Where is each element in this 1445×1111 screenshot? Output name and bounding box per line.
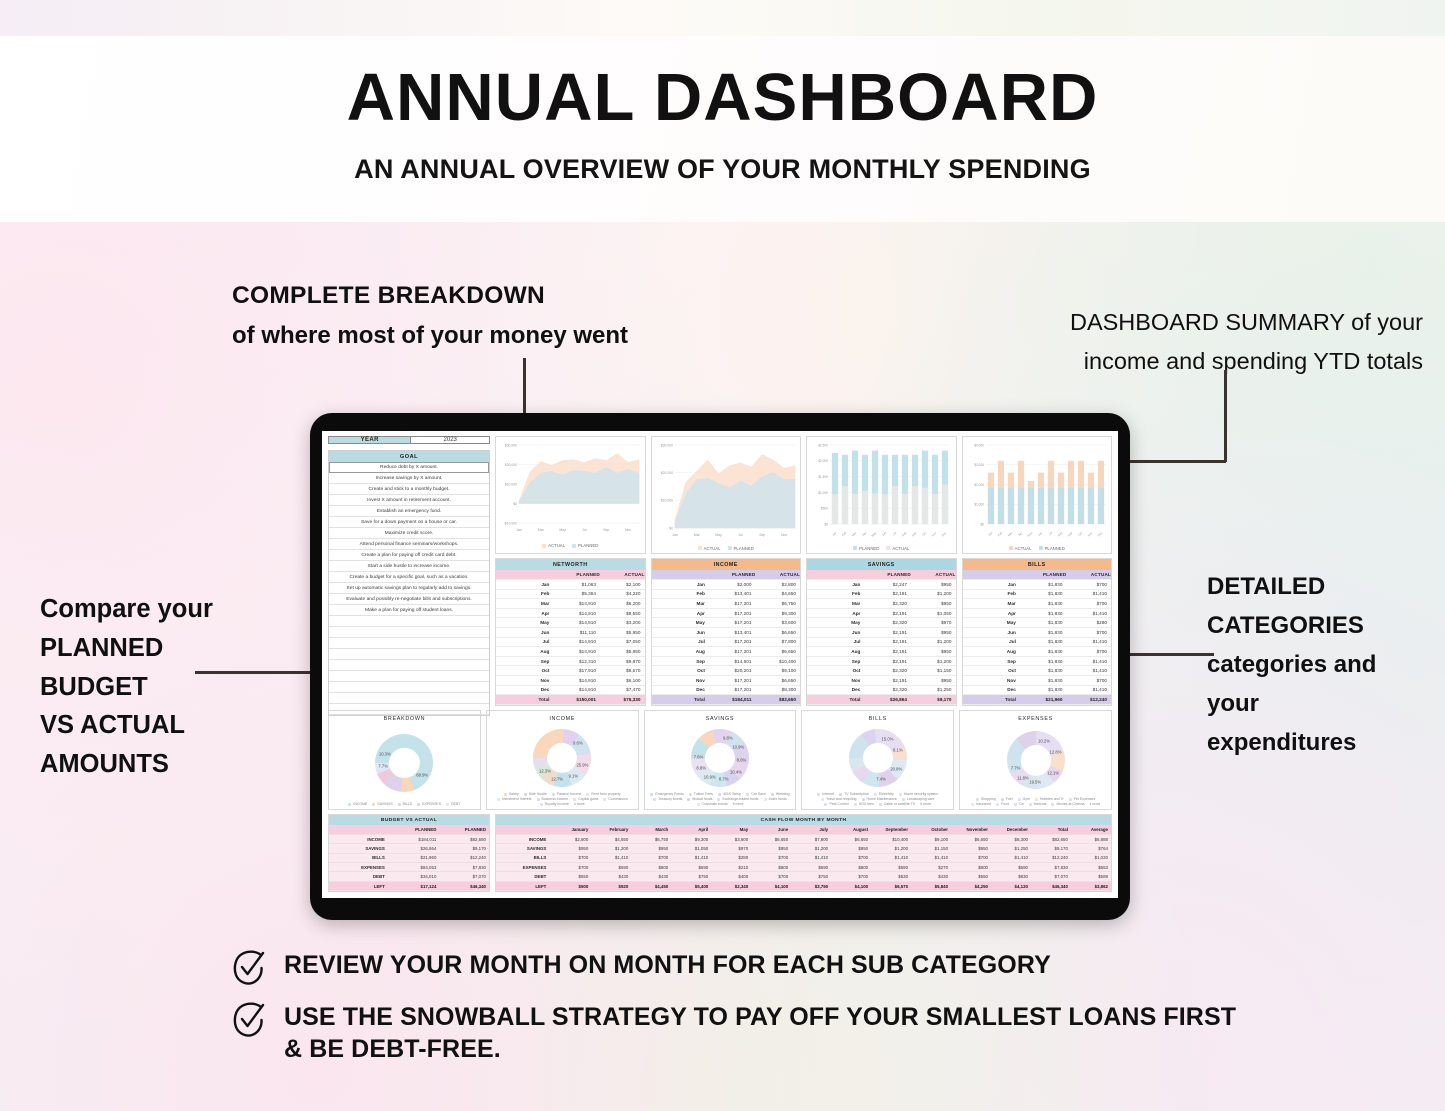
- goal-item-empty[interactable]: .: [329, 627, 489, 638]
- y-axis-tick-label: $0: [980, 522, 984, 526]
- cash-flow-cell[interactable]: $690: [871, 863, 911, 872]
- cash-flow-cell[interactable]: $1,410: [671, 853, 711, 862]
- table-row[interactable]: Aug$2,191$950: [807, 647, 956, 657]
- table-row[interactable]: Jan$2,247$950: [807, 580, 956, 590]
- cell-planned[interactable]: $5,364: [555, 589, 600, 599]
- cash-flow-cell[interactable]: $950: [551, 844, 591, 853]
- table-row[interactable]: Jun$13,401$6,650: [652, 628, 801, 638]
- cell-actual[interactable]: $7,050: [600, 637, 645, 647]
- goal-item-empty[interactable]: .: [329, 660, 489, 671]
- cell-planned[interactable]: $1,830: [1022, 666, 1067, 676]
- cash-flow-cell[interactable]: $750: [671, 872, 711, 881]
- bva-row[interactable]: LEFT$17,124$46,340: [329, 881, 489, 890]
- table-row[interactable]: Oct$20,201$9,100: [652, 666, 801, 676]
- goal-item[interactable]: Invest X amount in retirement account.: [329, 495, 489, 506]
- cell-actual[interactable]: $6,200: [600, 599, 645, 609]
- cell-actual[interactable]: $6,750: [755, 599, 800, 609]
- cash-flow-cell[interactable]: $3,750: [791, 881, 831, 890]
- bva-planned[interactable]: $17,124: [390, 881, 440, 890]
- chart-savings-bars[interactable]: $2,500$2,000$1,500$1,000$500$0JanFebMarA…: [806, 436, 957, 554]
- cell-actual[interactable]: $950: [911, 628, 956, 638]
- cell-actual[interactable]: $1,150: [911, 666, 956, 676]
- cell-actual[interactable]: $3,600: [755, 618, 800, 628]
- cash-flow-cell[interactable]: $800: [631, 863, 671, 872]
- bva-actual[interactable]: $82,650: [439, 834, 489, 843]
- cash-flow-cell[interactable]: $400: [711, 872, 751, 881]
- table-row[interactable]: Sep$1,830$1,410: [963, 656, 1112, 666]
- cell-actual[interactable]: $4,650: [755, 589, 800, 599]
- table-row[interactable]: Jun$2,191$950: [807, 628, 956, 638]
- x-axis-tick-label: Dec: [941, 530, 948, 537]
- cell-planned[interactable]: $17,201: [711, 608, 756, 618]
- cash-flow-cell[interactable]: $920: [591, 881, 631, 890]
- goal-item[interactable]: Save for a down payment on a house or ca…: [329, 517, 489, 528]
- cell-actual[interactable]: $1,410: [1066, 656, 1111, 666]
- table-cash-flow[interactable]: CASH FLOW MONTH BY MONTH JanuaryFebruary…: [495, 814, 1112, 892]
- cell-planned[interactable]: $2,191: [866, 637, 911, 647]
- bva-planned[interactable]: $184,011: [390, 834, 440, 843]
- cash-flow-cell[interactable]: $750: [791, 872, 831, 881]
- table-row[interactable]: Jul$17,201$7,800: [652, 637, 801, 647]
- legend-entry: Car Save: [746, 792, 766, 796]
- cell-actual[interactable]: $7,800: [755, 637, 800, 647]
- goal-item[interactable]: Attend personal finance seminars/worksho…: [329, 539, 489, 550]
- table-row[interactable]: Jul$2,191$1,200: [807, 637, 956, 647]
- cash-flow-cell[interactable]: $1,050: [671, 844, 711, 853]
- chart-bills-bars[interactable]: $4,000$3,000$2,000$1,000$0JanFebMarAprMa…: [962, 436, 1113, 554]
- cell-planned[interactable]: $2,191: [866, 628, 911, 638]
- cell-planned[interactable]: $1,830: [1022, 599, 1067, 609]
- cash-flow-cell[interactable]: $270: [911, 863, 951, 872]
- cell-actual[interactable]: $1,410: [1066, 637, 1111, 647]
- cash-flow-cell[interactable]: $12,240: [1031, 853, 1071, 862]
- table-bills[interactable]: BILLSPLANNEDACTUALJan$1,830$700Feb$1,830…: [962, 558, 1113, 706]
- bva-planned[interactable]: $84,053: [390, 863, 440, 872]
- table-row[interactable]: Apr$17,201$9,300: [652, 608, 801, 618]
- cell-planned[interactable]: $1,830: [1022, 637, 1067, 647]
- cash-flow-cell[interactable]: $5,400: [671, 881, 711, 890]
- bva-actual[interactable]: $12,240: [439, 853, 489, 862]
- cash-flow-cell[interactable]: $210: [711, 863, 751, 872]
- table-row[interactable]: Nov$2,191$950: [807, 676, 956, 686]
- cash-flow-cell[interactable]: $950: [951, 844, 991, 853]
- cell-planned[interactable]: $1,830: [1022, 647, 1067, 657]
- cash-flow-cell[interactable]: $1,410: [991, 853, 1031, 862]
- legend-entry: Emergency Funds: [650, 792, 683, 796]
- bva-row[interactable]: EXPENSES$84,053$7,830: [329, 863, 489, 872]
- year-selector[interactable]: YEAR 2023: [328, 436, 490, 444]
- cash-flow-cell[interactable]: $430: [591, 872, 631, 881]
- cell-planned[interactable]: $17,201: [711, 637, 756, 647]
- cash-flow-cell[interactable]: $550: [951, 872, 991, 881]
- cell-actual[interactable]: $5,950: [600, 628, 645, 638]
- cell-actual[interactable]: $1,250: [911, 685, 956, 695]
- cash-flow-cell[interactable]: $9,100: [911, 834, 951, 843]
- cash-flow-cell[interactable]: $4,100: [831, 881, 871, 890]
- cash-flow-cell[interactable]: $1,200: [791, 844, 831, 853]
- cell-actual[interactable]: $1,410: [1066, 608, 1111, 618]
- table-row[interactable]: Dec$2,320$1,250: [807, 685, 956, 695]
- cash-flow-cell[interactable]: $9,300: [671, 834, 711, 843]
- goal-item[interactable]: Evaluate and possibly re-negotiate bills…: [329, 594, 489, 605]
- cell-actual[interactable]: $2,800: [755, 580, 800, 590]
- cash-flow-cell[interactable]: $690: [591, 863, 631, 872]
- cash-flow-cell[interactable]: $950: [631, 844, 671, 853]
- cell-planned[interactable]: $1,830: [1022, 676, 1067, 686]
- cash-flow-cell[interactable]: $4,250: [951, 881, 991, 890]
- cash-flow-cell[interactable]: $700: [831, 872, 871, 881]
- cell-planned[interactable]: $2,320: [866, 666, 911, 676]
- table-row[interactable]: Feb$2,191$1,200: [807, 589, 956, 599]
- cell-actual[interactable]: $6,100: [600, 676, 645, 686]
- goal-item[interactable]: Set up automatic savings plan to regular…: [329, 583, 489, 594]
- cash-flow-cell[interactable]: $690: [991, 863, 1031, 872]
- cell-planned[interactable]: $1,830: [1022, 618, 1067, 628]
- table-row[interactable]: Apr$2,191$1,050: [807, 608, 956, 618]
- cash-flow-cell[interactable]: $950: [751, 844, 791, 853]
- cash-flow-cell[interactable]: $6,750: [631, 834, 671, 843]
- cell-actual[interactable]: $950: [911, 599, 956, 609]
- cell-actual[interactable]: $6,650: [755, 676, 800, 686]
- table-row[interactable]: Apr$14,910$8,550: [496, 608, 645, 618]
- donut-card-expenses[interactable]: EXPENSES10.2%12.8%12.1%19.5%11.8%7.7%Sho…: [959, 710, 1112, 810]
- table-row[interactable]: Nov$17,201$6,650: [652, 676, 801, 686]
- table-row[interactable]: Aug$1,830$700: [963, 647, 1112, 657]
- table-row[interactable]: Sep$14,601$10,400: [652, 656, 801, 666]
- cell-planned[interactable]: $2,191: [866, 656, 911, 666]
- cash-flow-cell[interactable]: $2,800: [551, 834, 591, 843]
- cash-flow-row[interactable]: INCOME$2,800$4,650$6,750$9,300$3,600$6,6…: [496, 834, 1111, 843]
- table-row[interactable]: Mar$1,830$700: [963, 599, 1112, 609]
- goal-item-empty[interactable]: .: [329, 704, 489, 715]
- cell-actual[interactable]: $2,100: [600, 580, 645, 590]
- table-row[interactable]: Aug$14,910$5,950: [496, 647, 645, 657]
- cell-actual[interactable]: $8,300: [755, 685, 800, 695]
- cell-planned[interactable]: $13,401: [711, 628, 756, 638]
- cash-flow-row[interactable]: SAVINGS$950$1,200$950$1,050$970$950$1,20…: [496, 844, 1111, 853]
- table-row[interactable]: May$1,830$280: [963, 618, 1112, 628]
- goal-item-empty[interactable]: .: [329, 649, 489, 660]
- goal-item[interactable]: Make a plan for paying off student loans…: [329, 605, 489, 616]
- table-row[interactable]: Mar$2,320$950: [807, 599, 956, 609]
- cell-planned[interactable]: $14,910: [555, 647, 600, 657]
- cell-planned[interactable]: $1,830: [1022, 580, 1067, 590]
- cell-planned[interactable]: $1,830: [1022, 608, 1067, 618]
- cash-flow-cell[interactable]: $7,830: [1031, 863, 1071, 872]
- cell-actual[interactable]: $1,200: [911, 656, 956, 666]
- cell-planned[interactable]: $1,830: [1022, 589, 1067, 599]
- table-row[interactable]: Jan$1,063$2,100: [496, 580, 645, 590]
- cash-flow-cell[interactable]: $550: [551, 872, 591, 881]
- cell-planned[interactable]: $2,320: [866, 599, 911, 609]
- cell-actual[interactable]: $10,400: [755, 656, 800, 666]
- cash-flow-cell[interactable]: $700: [831, 853, 871, 862]
- bva-actual[interactable]: $46,340: [439, 881, 489, 890]
- cell-actual[interactable]: $950: [911, 647, 956, 657]
- cash-flow-cell[interactable]: $1,410: [591, 853, 631, 862]
- cell-planned[interactable]: $2,320: [866, 685, 911, 695]
- donut-card-bills[interactable]: BILLS15.0%8.1%20.8%7.4%InternetTV Subscr…: [801, 710, 954, 810]
- goal-item[interactable]: Reduce debt by X amount.: [329, 462, 489, 473]
- cell-actual[interactable]: $950: [911, 580, 956, 590]
- cell-actual[interactable]: $4,220: [600, 589, 645, 599]
- cell-actual[interactable]: $9,300: [755, 608, 800, 618]
- table-row[interactable]: Feb$5,364$4,220: [496, 589, 645, 599]
- cell-planned[interactable]: $14,910: [555, 685, 600, 695]
- cell-actual[interactable]: $1,200: [911, 589, 956, 599]
- table-row[interactable]: Jun$11,110$5,950: [496, 628, 645, 638]
- cell-actual[interactable]: $1,410: [1066, 685, 1111, 695]
- table-row[interactable]: Nov$14,910$6,100: [496, 676, 645, 686]
- goal-item-empty[interactable]: .: [329, 616, 489, 627]
- cash-flow-cell[interactable]: $4,100: [751, 881, 791, 890]
- cash-flow-cell[interactable]: $4,650: [591, 834, 631, 843]
- cash-flow-row[interactable]: BILLS$700$1,410$700$1,410$280$700$1,410$…: [496, 853, 1111, 862]
- cell-planned[interactable]: $2,000: [711, 580, 756, 590]
- cash-flow-cell[interactable]: $700: [951, 853, 991, 862]
- goal-item[interactable]: Create a plan for paying off credit card…: [329, 550, 489, 561]
- table-row[interactable]: Dec$1,830$1,410: [963, 685, 1112, 695]
- cash-flow-cell[interactable]: $690: [791, 863, 831, 872]
- donut-slice-label: 12.3%: [539, 768, 551, 773]
- cell-planned[interactable]: $14,910: [555, 599, 600, 609]
- cell-planned[interactable]: $14,601: [711, 656, 756, 666]
- year-value[interactable]: 2023: [411, 437, 489, 443]
- chart-networth-trend[interactable]: $30,000$20,000$10,000$0-$10,000JanMarMay…: [495, 436, 646, 554]
- cash-flow-row[interactable]: EXPENSES$700$690$800$690$210$800$690$800…: [496, 863, 1111, 872]
- table-row[interactable]: Jan$1,830$700: [963, 580, 1112, 590]
- table-networth[interactable]: NETWORTHPLANNEDACTUALJan$1,063$2,100Feb$…: [495, 558, 646, 706]
- cash-flow-cell[interactable]: $800: [831, 863, 871, 872]
- bva-row[interactable]: SAVINGS$26,864$9,170: [329, 844, 489, 853]
- cash-flow-cell[interactable]: $7,800: [791, 834, 831, 843]
- cash-flow-cell[interactable]: $1,410: [791, 853, 831, 862]
- cell-actual[interactable]: $9,870: [600, 656, 645, 666]
- goal-item[interactable]: Create a budget for a specific goal, suc…: [329, 572, 489, 583]
- cell-actual[interactable]: $8,550: [600, 608, 645, 618]
- cell-actual[interactable]: $950: [911, 676, 956, 686]
- cash-flow-cell[interactable]: $500: [551, 881, 591, 890]
- cell-planned[interactable]: $17,201: [711, 647, 756, 657]
- bva-row[interactable]: BILLS$21,960$12,240: [329, 853, 489, 862]
- cell-actual[interactable]: $9,100: [755, 666, 800, 676]
- table-income[interactable]: INCOMEPLANNEDACTUALJan$2,000$2,800Feb$13…: [651, 558, 802, 706]
- cash-flow-cell[interactable]: $6,650: [831, 834, 871, 843]
- cash-flow-row[interactable]: LEFT$500$920$4,450$5,400$2,340$4,100$3,7…: [496, 881, 1111, 890]
- cash-flow-cell[interactable]: $82,650: [1031, 834, 1071, 843]
- table-row[interactable]: Jun$1,830$700: [963, 628, 1112, 638]
- cell-planned[interactable]: $17,910: [555, 666, 600, 676]
- cell-actual[interactable]: $700: [1066, 628, 1111, 638]
- goal-item[interactable]: Create and stick to a monthly budget.: [329, 484, 489, 495]
- table-row[interactable]: May$2,320$970: [807, 618, 956, 628]
- cell-actual[interactable]: $6,650: [755, 628, 800, 638]
- table-row[interactable]: Aug$17,201$6,650: [652, 647, 801, 657]
- cell-planned[interactable]: $1,830: [1022, 656, 1067, 666]
- cash-flow-cell[interactable]: $700: [751, 872, 791, 881]
- table-row[interactable]: Jul$14,910$7,050: [496, 637, 645, 647]
- table-row[interactable]: Jan$2,000$2,800: [652, 580, 801, 590]
- cash-flow-cell[interactable]: $653: [1071, 863, 1111, 872]
- cash-flow-cell[interactable]: $589: [1071, 872, 1111, 881]
- bva-row[interactable]: INCOME$184,011$82,650: [329, 834, 489, 843]
- cell-planned[interactable]: $1,063: [555, 580, 600, 590]
- table-row[interactable]: May$17,201$3,600: [652, 618, 801, 628]
- goal-item-empty[interactable]: .: [329, 638, 489, 649]
- table-title: BILLS: [963, 559, 1112, 570]
- cash-flow-cell[interactable]: $4,120: [991, 881, 1031, 890]
- cell-planned[interactable]: $14,910: [555, 676, 600, 686]
- table-row[interactable]: Sep$12,310$9,870: [496, 656, 645, 666]
- cash-flow-cell[interactable]: $690: [671, 863, 711, 872]
- cell-planned[interactable]: $17,201: [711, 599, 756, 609]
- table-row[interactable]: Dec$17,201$8,300: [652, 685, 801, 695]
- cash-flow-cell[interactable]: $1,200: [871, 844, 911, 853]
- cell-actual[interactable]: $1,200: [911, 637, 956, 647]
- cash-flow-cell[interactable]: $830: [991, 872, 1031, 881]
- cell-planned[interactable]: $1,830: [1022, 628, 1067, 638]
- cash-flow-cell[interactable]: $2,340: [711, 881, 751, 890]
- cell-actual[interactable]: $280: [1066, 618, 1111, 628]
- cash-flow-cell[interactable]: $8,300: [991, 834, 1031, 843]
- cell-planned[interactable]: $20,201: [711, 666, 756, 676]
- goal-item-empty[interactable]: .: [329, 671, 489, 682]
- cell-planned[interactable]: $2,191: [866, 647, 911, 657]
- legend-label: DEBT: [451, 802, 460, 806]
- cash-flow-cell[interactable]: $6,650: [751, 834, 791, 843]
- cell-actual[interactable]: $1,410: [1066, 666, 1111, 676]
- cash-flow-cell[interactable]: $1,410: [871, 853, 911, 862]
- cash-flow-cell[interactable]: $800: [751, 863, 791, 872]
- table-row[interactable]: Feb$1,830$1,410: [963, 589, 1112, 599]
- cash-flow-cell[interactable]: $280: [711, 853, 751, 862]
- chart-income-trend[interactable]: $30,000$20,000$10,000$0JanMarMayJulSepNo…: [651, 436, 802, 554]
- cell-planned[interactable]: $2,247: [866, 580, 911, 590]
- cell-planned[interactable]: $2,191: [866, 676, 911, 686]
- table-row[interactable]: Oct$1,830$1,410: [963, 666, 1112, 676]
- cell-planned[interactable]: $13,401: [711, 589, 756, 599]
- table-budget-vs-actual[interactable]: BUDGET VS ACTUAL PLANNEDPLANNEDINCOME$18…: [328, 814, 490, 892]
- table-row[interactable]: Mar$14,910$6,200: [496, 599, 645, 609]
- cell-planned[interactable]: $2,191: [866, 608, 911, 618]
- cash-flow-cell[interactable]: $1,410: [911, 853, 951, 862]
- cell-planned[interactable]: $14,910: [555, 637, 600, 647]
- table-row[interactable]: May$14,910$3,200: [496, 618, 645, 628]
- cash-flow-cell[interactable]: $430: [631, 872, 671, 881]
- cell-actual[interactable]: $700: [1066, 599, 1111, 609]
- cash-flow-cell[interactable]: $6,650: [951, 834, 991, 843]
- cell-actual[interactable]: $5,950: [600, 647, 645, 657]
- cash-flow-cell[interactable]: $3,862: [1071, 881, 1111, 890]
- cash-flow-cell[interactable]: $1,200: [591, 844, 631, 853]
- cash-flow-cell[interactable]: $764: [1071, 844, 1111, 853]
- cell-planned[interactable]: $14,910: [555, 608, 600, 618]
- table-row[interactable]: Sep$2,191$1,200: [807, 656, 956, 666]
- cell-planned[interactable]: $14,910: [555, 618, 600, 628]
- cell-planned[interactable]: $17,201: [711, 676, 756, 686]
- cash-flow-cell[interactable]: $700: [631, 853, 671, 862]
- cash-flow-cell[interactable]: $430: [911, 872, 951, 881]
- cell-planned[interactable]: $17,201: [711, 685, 756, 695]
- bva-actual[interactable]: $7,830: [439, 863, 489, 872]
- table-row[interactable]: Jul$1,830$1,410: [963, 637, 1112, 647]
- table-row[interactable]: Apr$1,830$1,410: [963, 608, 1112, 618]
- goal-item[interactable]: Establish an emergency fund.: [329, 506, 489, 517]
- bva-planned[interactable]: $21,960: [390, 853, 440, 862]
- cell-actual[interactable]: $3,200: [600, 618, 645, 628]
- goal-item[interactable]: Start a side hustle to increase income.: [329, 561, 489, 572]
- cash-flow-cell[interactable]: $700: [751, 853, 791, 862]
- cash-flow-cell[interactable]: $4,450: [631, 881, 671, 890]
- cash-flow-cell[interactable]: $6,888: [1071, 834, 1111, 843]
- table-row[interactable]: Dec$14,910$7,470: [496, 685, 645, 695]
- cash-flow-cell[interactable]: $700: [551, 863, 591, 872]
- cash-flow-cell[interactable]: $1,020: [1071, 853, 1111, 862]
- bva-actual[interactable]: $7,070: [439, 872, 489, 881]
- cell-actual[interactable]: $1,050: [911, 608, 956, 618]
- cell-planned[interactable]: $12,310: [555, 656, 600, 666]
- cell-actual[interactable]: $6,650: [755, 647, 800, 657]
- cash-flow-cell[interactable]: $46,340: [1031, 881, 1071, 890]
- cell-planned[interactable]: $2,191: [866, 589, 911, 599]
- cell-actual[interactable]: $700: [1066, 676, 1111, 686]
- bva-actual[interactable]: $9,170: [439, 844, 489, 853]
- donut-card-breakdown[interactable]: BREAKDOWN68.9%7.7%10.3%INCOMESAVINGSBILL…: [328, 710, 481, 810]
- cash-flow-cell[interactable]: $6,570: [871, 881, 911, 890]
- bva-row[interactable]: DEBT$34,010$7,070: [329, 872, 489, 881]
- cell-actual[interactable]: $8,670: [600, 666, 645, 676]
- table-row[interactable]: Oct$17,910$8,670: [496, 666, 645, 676]
- cash-flow-cell[interactable]: $1,150: [911, 844, 951, 853]
- cell-planned[interactable]: $1,830: [1022, 685, 1067, 695]
- cash-flow-cell[interactable]: $1,250: [991, 844, 1031, 853]
- cell-planned[interactable]: $2,320: [866, 618, 911, 628]
- cell-actual[interactable]: $1,410: [1066, 589, 1111, 599]
- table-row[interactable]: Mar$17,201$6,750: [652, 599, 801, 609]
- cash-flow-cell[interactable]: $530: [871, 872, 911, 881]
- cell-planned[interactable]: $17,201: [711, 618, 756, 628]
- cash-flow-cell[interactable]: $950: [831, 844, 871, 853]
- goal-item[interactable]: Maximize credit score.: [329, 528, 489, 539]
- cash-flow-cell[interactable]: $9,170: [1031, 844, 1071, 853]
- cash-flow-cell[interactable]: $970: [711, 844, 751, 853]
- cash-flow-cell[interactable]: $5,840: [911, 881, 951, 890]
- cash-flow-cell[interactable]: $800: [951, 863, 991, 872]
- table-row[interactable]: Nov$1,830$700: [963, 676, 1112, 686]
- donut-card-savings[interactable]: SAVINGS9.8%10.9%8.0%10.4%8.7%10.9%8.8%7.…: [644, 710, 797, 810]
- table-row[interactable]: Oct$2,320$1,150: [807, 666, 956, 676]
- legend-label: Hobbies and Tr: [1040, 797, 1064, 801]
- bva-planned[interactable]: $34,010: [390, 872, 440, 881]
- bva-planned[interactable]: $26,864: [390, 844, 440, 853]
- cash-flow-cell[interactable]: $10,400: [871, 834, 911, 843]
- goal-item-empty[interactable]: .: [329, 693, 489, 704]
- donut-card-income[interactable]: INCOME9.6%25.9%9.1%12.7%12.3%SalarySide …: [486, 710, 639, 810]
- cell-actual[interactable]: $970: [911, 618, 956, 628]
- cell-actual[interactable]: $7,470: [600, 685, 645, 695]
- cell-planned[interactable]: $11,110: [555, 628, 600, 638]
- cell-actual[interactable]: $700: [1066, 647, 1111, 657]
- goal-item[interactable]: Increase savings by X amount.: [329, 473, 489, 484]
- table-row[interactable]: Feb$13,401$4,650: [652, 589, 801, 599]
- cash-flow-row[interactable]: DEBT$550$430$430$750$400$700$750$700$530…: [496, 872, 1111, 881]
- cash-flow-cell[interactable]: $700: [551, 853, 591, 862]
- table-savings[interactable]: SAVINGSPLANNEDACTUALJan$2,247$950Feb$2,1…: [806, 558, 957, 706]
- goal-item-empty[interactable]: .: [329, 682, 489, 693]
- cash-flow-cell[interactable]: $7,070: [1031, 872, 1071, 881]
- cell-actual[interactable]: $700: [1066, 580, 1111, 590]
- cash-flow-cell[interactable]: $3,600: [711, 834, 751, 843]
